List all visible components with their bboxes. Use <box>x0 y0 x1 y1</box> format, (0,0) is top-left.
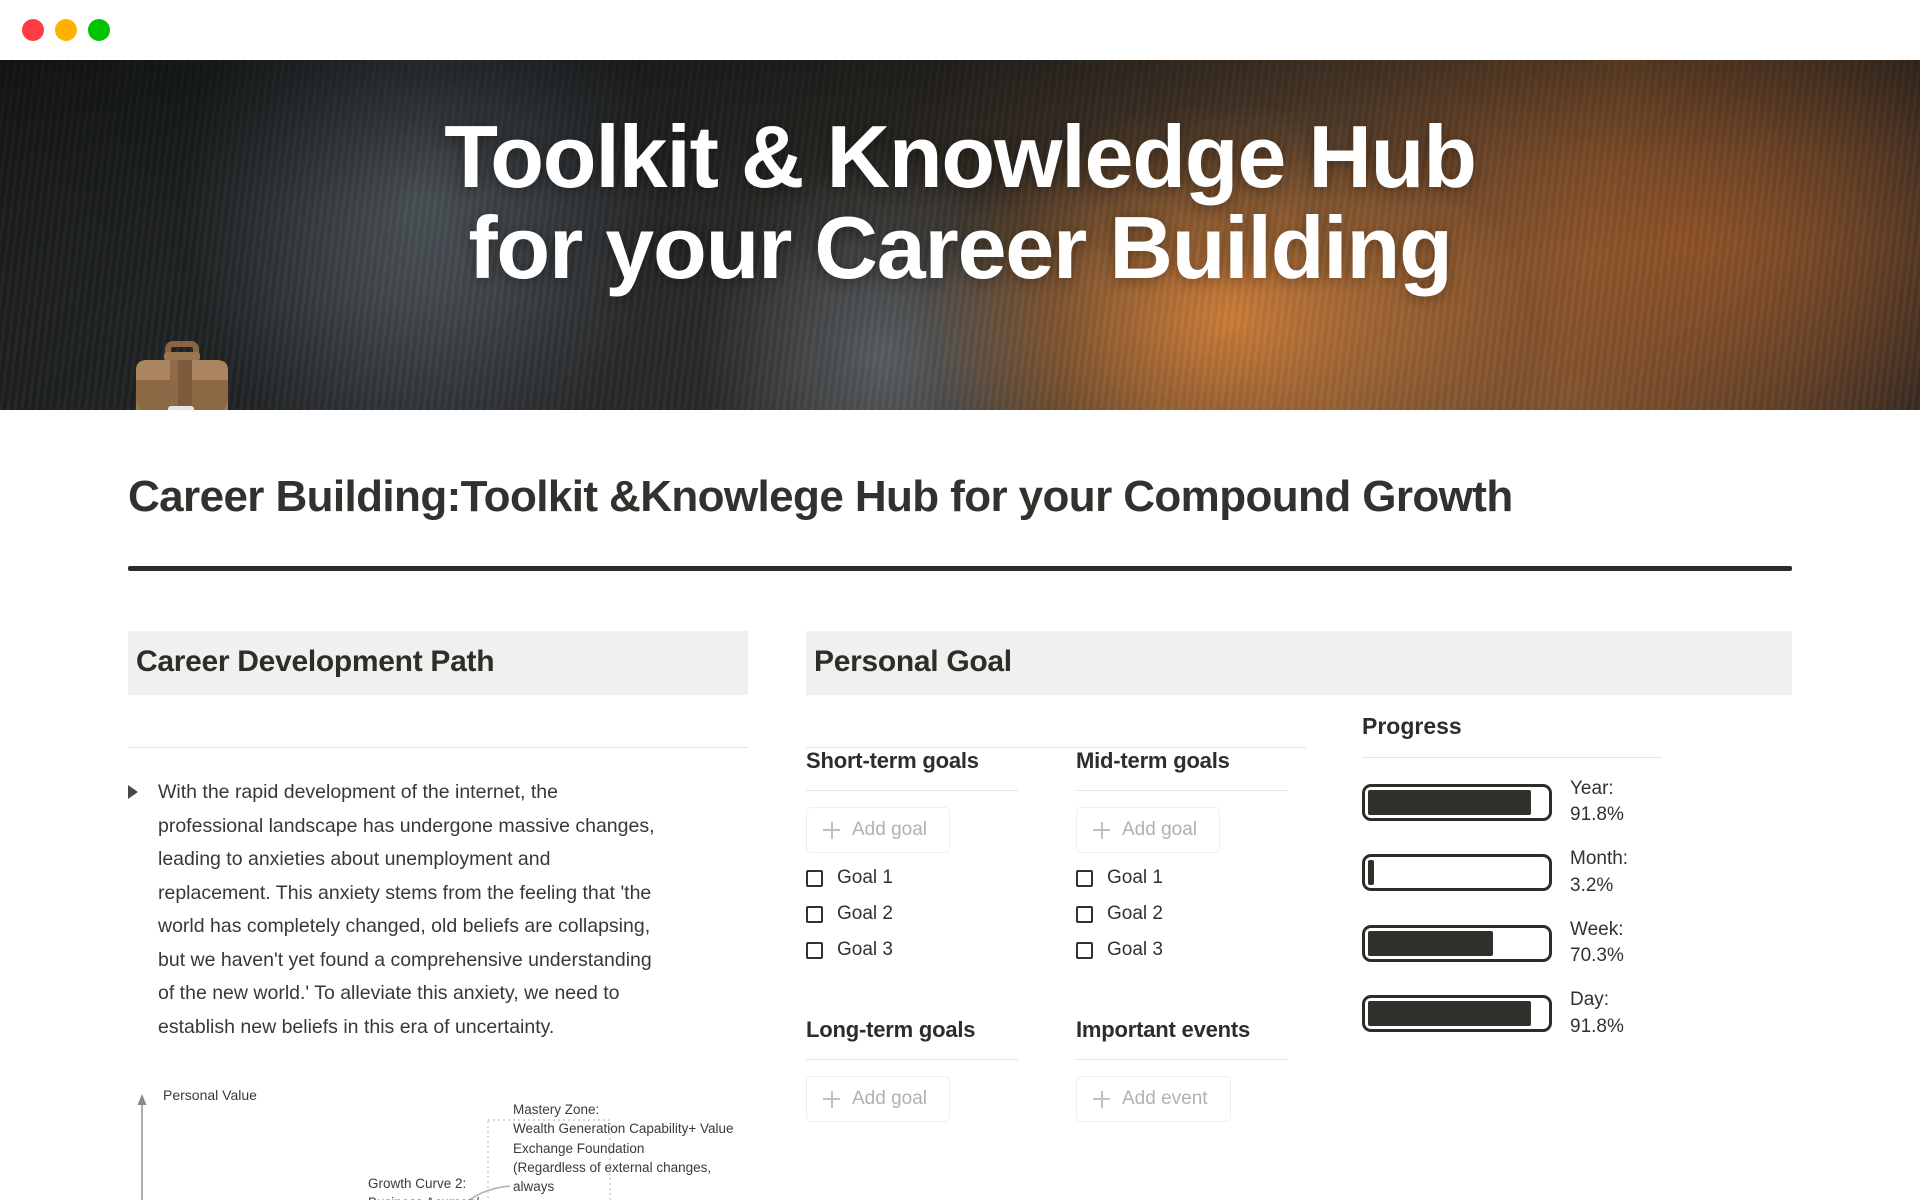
progress-label-week: Week: 70.3% <box>1570 917 1662 969</box>
progress-bar-fill <box>1368 931 1493 956</box>
goal-grid: Short-term goals Add goal Goal 1 <box>806 695 1306 1122</box>
page-title: Career Building:Toolkit &Knowlege Hub fo… <box>128 472 1792 522</box>
progress-bar-fill <box>1368 860 1374 885</box>
progress-bar-fill <box>1368 1001 1531 1026</box>
progress-bar-week <box>1362 925 1552 962</box>
goal-group-rule <box>806 1059 1018 1060</box>
add-event-button[interactable]: Add event <box>1076 1076 1231 1122</box>
add-event-label: Add event <box>1122 1088 1208 1110</box>
progress-title: Progress <box>1362 713 1662 740</box>
growth-curve-diagram: Personal Value Growth Curve 2: Business … <box>128 1086 748 1200</box>
section-header-career-development: Career Development Path <box>128 631 748 695</box>
goal-item-label: Goal 3 <box>837 939 893 961</box>
hero-title: Toolkit & Knowledge Hub for your Career … <box>0 60 1920 293</box>
hero-title-line-1: Toolkit & Knowledge Hub <box>120 112 1800 203</box>
goal-checkbox[interactable] <box>806 870 823 887</box>
progress-panel: Progress Year: 91.8% Month: 3.2% <box>1362 695 1662 1122</box>
goal-checkbox[interactable] <box>1076 906 1093 923</box>
goal-item-label: Goal 3 <box>1107 939 1163 961</box>
add-goal-button-long-term[interactable]: Add goal <box>806 1076 950 1122</box>
progress-row-week: Week: 70.3% <box>1362 917 1662 969</box>
goal-item[interactable]: Goal 2 <box>1076 903 1288 925</box>
goal-item[interactable]: Goal 2 <box>806 903 1018 925</box>
personal-goal-column: Personal Goal Short-term goals Add goal <box>806 631 1792 1122</box>
title-divider <box>128 566 1792 571</box>
collapse-triangle-icon[interactable] <box>128 785 138 799</box>
goal-checkbox[interactable] <box>806 906 823 923</box>
add-goal-label: Add goal <box>1122 819 1197 841</box>
progress-bar-year <box>1362 784 1552 821</box>
progress-label-year: Year: 91.8% <box>1570 776 1662 828</box>
diagram-axis-label: Personal Value <box>163 1086 257 1106</box>
goal-item-label: Goal 2 <box>837 903 893 925</box>
career-development-column: Career Development Path With the rapid d… <box>128 631 748 1200</box>
diagram-growth-curve-2-label: Growth Curve 2: Business Acumen/ Systemi… <box>368 1174 479 1200</box>
goal-checkbox[interactable] <box>1076 942 1093 959</box>
goal-item-label: Goal 1 <box>1107 867 1163 889</box>
goal-group-title: Long-term goals <box>806 1017 1018 1043</box>
goal-group-rule <box>1076 1059 1288 1060</box>
goal-group-long-term: Long-term goals Add goal <box>806 1017 1018 1122</box>
content-columns: Career Development Path With the rapid d… <box>128 631 1792 1200</box>
progress-rule <box>1362 757 1662 758</box>
plus-icon <box>823 822 840 839</box>
add-goal-button-short-term[interactable]: Add goal <box>806 807 950 853</box>
hero-banner: Toolkit & Knowledge Hub for your Career … <box>0 60 1920 410</box>
add-goal-button-mid-term[interactable]: Add goal <box>1076 807 1220 853</box>
progress-bar-month <box>1362 854 1552 891</box>
goal-group-short-term: Short-term goals Add goal Goal 1 <box>806 748 1018 961</box>
progress-row-day: Day: 91.8% <box>1362 987 1662 1039</box>
goal-group-rule <box>1076 790 1288 791</box>
goal-group-title: Mid-term goals <box>1076 748 1288 774</box>
left-column-rule <box>128 747 748 748</box>
minimize-window-button[interactable] <box>55 19 77 41</box>
goal-row: Short-term goals Add goal Goal 1 <box>806 748 1306 961</box>
hero-title-line-2: for your Career Building <box>120 203 1800 294</box>
goal-item[interactable]: Goal 3 <box>806 939 1018 961</box>
close-window-button[interactable] <box>22 19 44 41</box>
progress-bar-fill <box>1368 790 1531 815</box>
briefcase-icon[interactable] <box>130 336 234 410</box>
goal-item-label: Goal 2 <box>1107 903 1163 925</box>
goal-checkbox[interactable] <box>1076 870 1093 887</box>
goal-group-title: Short-term goals <box>806 748 1018 774</box>
progress-row-month: Month: 3.2% <box>1362 846 1662 898</box>
goal-item[interactable]: Goal 1 <box>806 867 1018 889</box>
page-body: Career Building:Toolkit &Knowlege Hub fo… <box>0 472 1920 1200</box>
plus-icon <box>823 1091 840 1108</box>
goal-item[interactable]: Goal 3 <box>1076 939 1288 961</box>
goal-row: Long-term goals Add goal Important event… <box>806 1017 1306 1122</box>
window-titlebar <box>0 0 1920 60</box>
goal-group-mid-term: Mid-term goals Add goal Goal 1 <box>1076 748 1288 961</box>
plus-icon <box>1093 1091 1110 1108</box>
goal-item-label: Goal 1 <box>837 867 893 889</box>
add-goal-label: Add goal <box>852 1088 927 1110</box>
career-path-callout: With the rapid development of the intern… <box>128 776 748 1044</box>
add-goal-label: Add goal <box>852 819 927 841</box>
progress-label-day: Day: 91.8% <box>1570 987 1662 1039</box>
goal-checkbox[interactable] <box>806 942 823 959</box>
progress-bar-day <box>1362 995 1552 1032</box>
progress-label-month: Month: 3.2% <box>1570 846 1662 898</box>
goal-item[interactable]: Goal 1 <box>1076 867 1288 889</box>
career-path-callout-text: With the rapid development of the intern… <box>158 776 658 1044</box>
goal-group-title: Important events <box>1076 1017 1288 1043</box>
maximize-window-button[interactable] <box>88 19 110 41</box>
progress-row-year: Year: 91.8% <box>1362 776 1662 828</box>
goal-group-important-events: Important events Add event <box>1076 1017 1288 1122</box>
goal-group-rule <box>806 790 1018 791</box>
section-header-personal-goal: Personal Goal <box>806 631 1792 695</box>
plus-icon <box>1093 822 1110 839</box>
diagram-mastery-zone-label: Mastery Zone: Wealth Generation Capabili… <box>513 1100 748 1200</box>
goal-and-progress-area: Short-term goals Add goal Goal 1 <box>806 695 1792 1122</box>
